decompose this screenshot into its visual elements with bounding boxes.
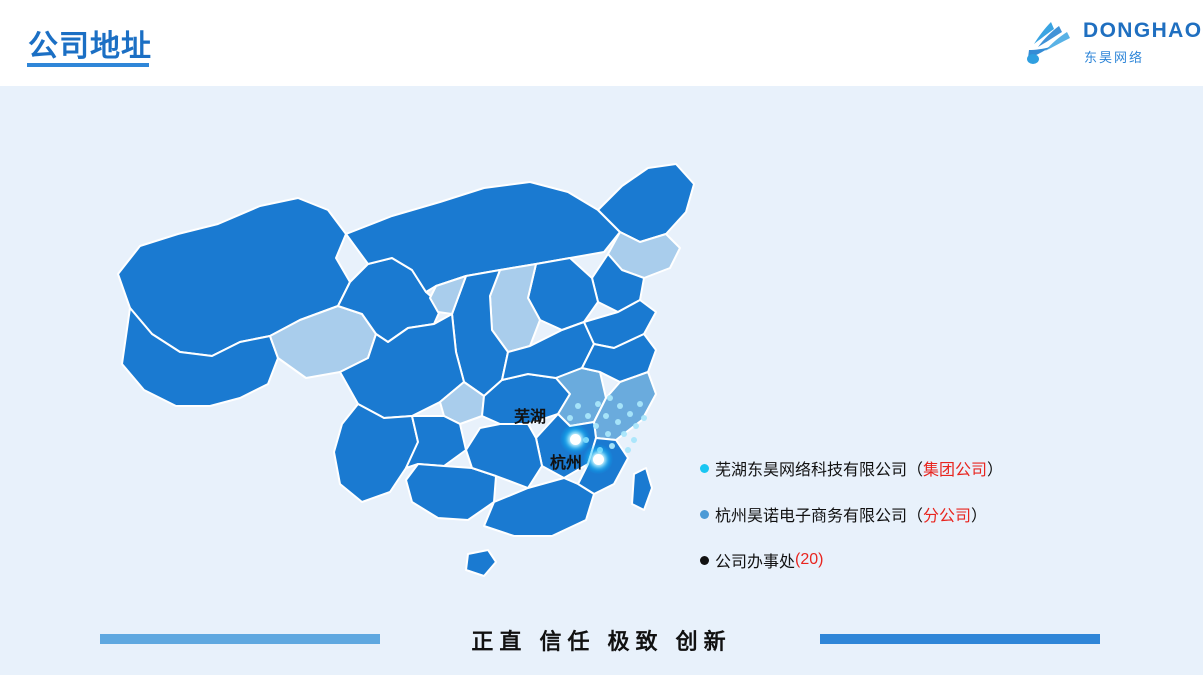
legend-item-offices: 公司办事处 (20)	[700, 548, 1120, 572]
legend-label-offices: 公司办事处	[715, 548, 795, 572]
legend-tag-group-company: 集团公司	[923, 456, 987, 480]
title-underline	[27, 63, 149, 67]
legend-suffix-group-company: ）	[987, 456, 1003, 480]
footer-slogan: 正直 信任 极致 创新	[0, 624, 1203, 656]
legend-tag-offices: (20)	[795, 551, 823, 569]
legend-suffix-branch-company: ）	[971, 502, 987, 526]
legend-dot-group-company	[700, 464, 709, 473]
slide-header: 公司地址 DONGHAO 东昊网络	[0, 0, 1203, 86]
logo-text-sub: 东昊网络	[1084, 47, 1144, 66]
map-area: 芜湖 杭州 芜湖东昊网络科技有限公司（ 集团公司 ） 杭州昊诺电子商务有限公司（…	[0, 86, 1203, 675]
legend-dot-branch-company	[700, 510, 709, 519]
city-label-hangzhou: 杭州	[550, 449, 582, 473]
legend-label-group-company: 芜湖东昊网络科技有限公司（	[715, 456, 923, 480]
city-label-wuhu: 芜湖	[514, 403, 546, 427]
company-logo: DONGHAO 东昊网络	[1021, 10, 1181, 72]
legend-dot-offices	[700, 556, 709, 565]
logo-mark-icon	[1021, 16, 1077, 66]
marker-dot-hangzhou	[593, 454, 604, 465]
slide: 公司地址 DONGHAO 东昊网络	[0, 0, 1203, 675]
legend: 芜湖东昊网络科技有限公司（ 集团公司 ） 杭州昊诺电子商务有限公司（ 分公司 ）…	[700, 456, 1120, 594]
legend-label-branch-company: 杭州昊诺电子商务有限公司（	[715, 502, 923, 526]
marker-dot-wuhu	[570, 434, 581, 445]
logo-text-main: DONGHAO	[1083, 19, 1202, 43]
china-map	[100, 106, 720, 606]
legend-tag-branch-company: 分公司	[923, 502, 971, 526]
page-title: 公司地址	[28, 21, 152, 65]
legend-item-branch-company: 杭州昊诺电子商务有限公司（ 分公司 ）	[700, 502, 1120, 526]
legend-item-group-company: 芜湖东昊网络科技有限公司（ 集团公司 ）	[700, 456, 1120, 480]
